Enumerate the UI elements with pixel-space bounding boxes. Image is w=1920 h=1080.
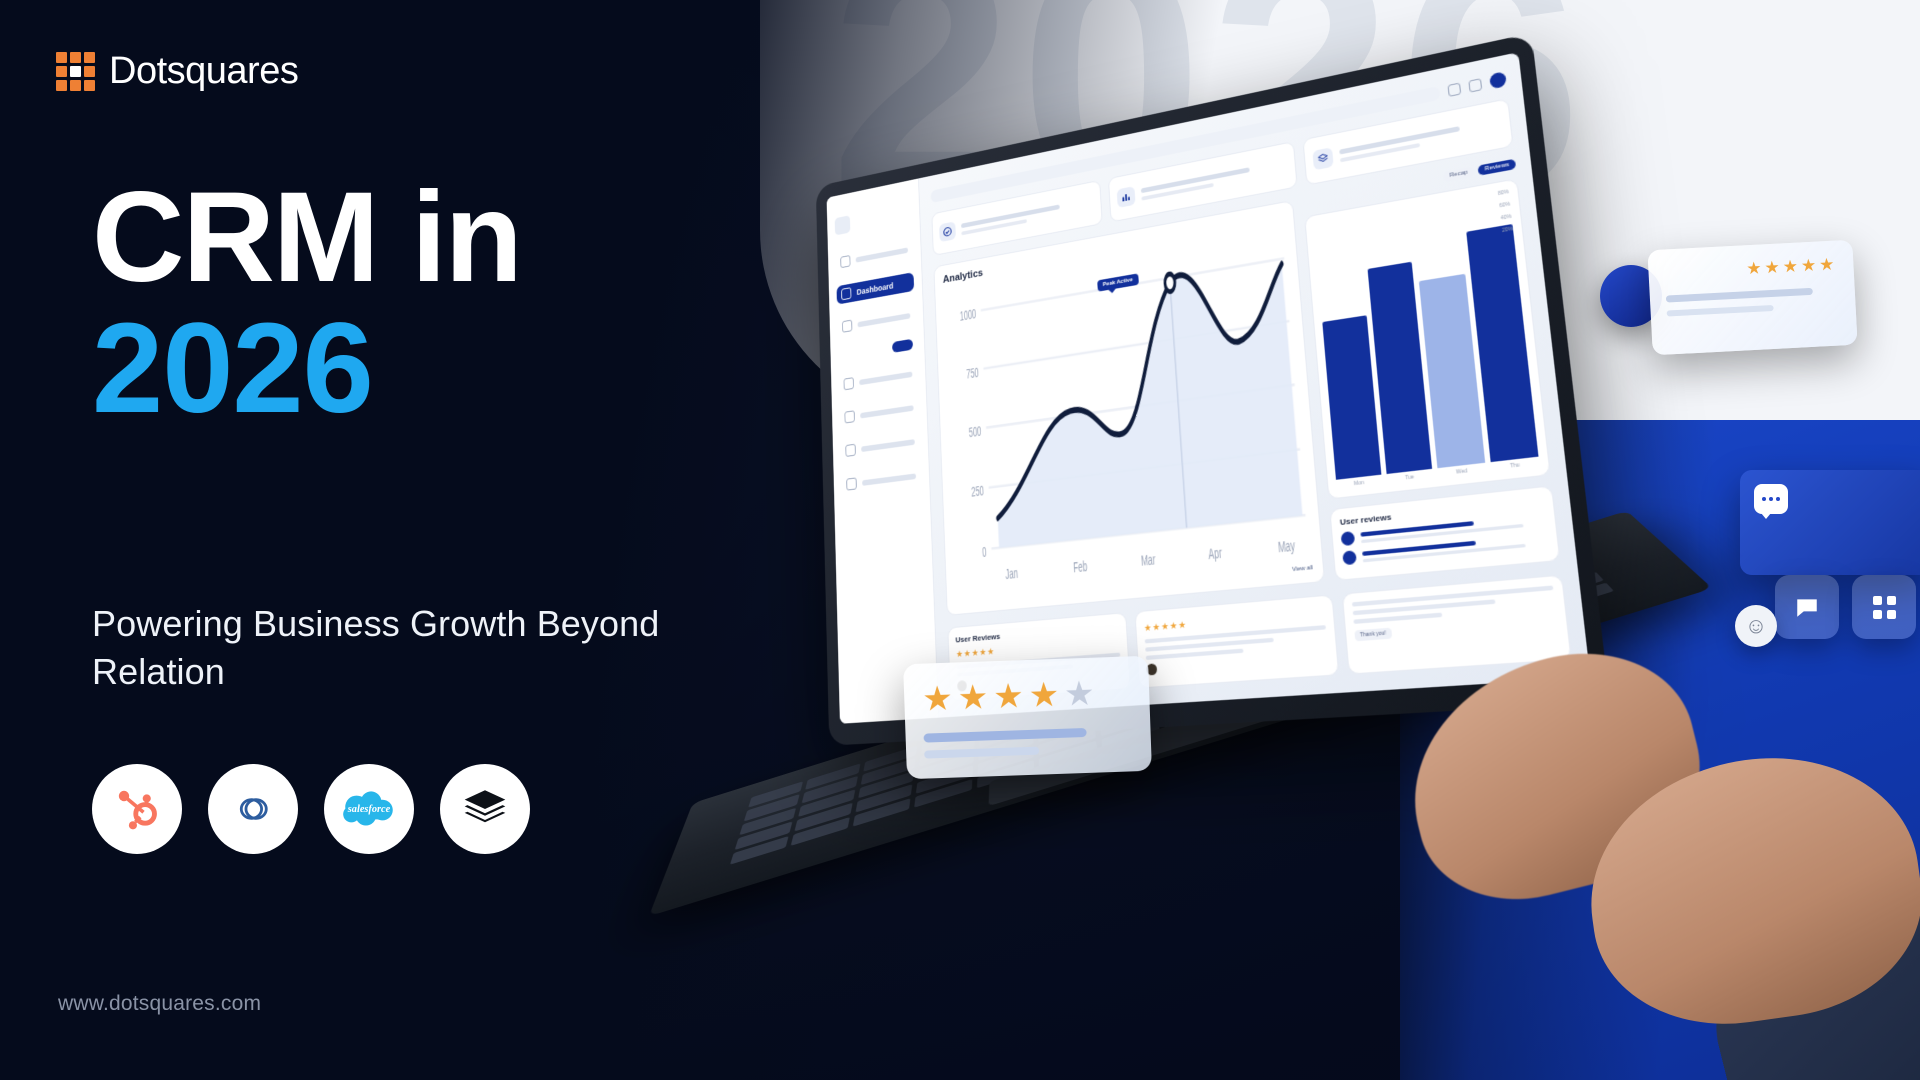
sidebar-toggle[interactable] bbox=[892, 339, 913, 353]
crm-dashboard: Dashboard bbox=[827, 52, 1591, 724]
svg-text:Mar: Mar bbox=[1141, 553, 1156, 571]
brand-logo[interactable]: Dotsquares bbox=[56, 50, 298, 93]
analytics-card: Analytics Peak Active bbox=[933, 200, 1325, 616]
website-url[interactable]: www.dotsquares.com bbox=[58, 992, 261, 1016]
svg-text:750: 750 bbox=[966, 365, 979, 382]
dotsquares-grid-logo-icon bbox=[56, 52, 95, 91]
check-circle-icon bbox=[939, 221, 956, 242]
avatar bbox=[1342, 550, 1357, 565]
crm-logo-salesforce[interactable]: salesforce bbox=[324, 764, 414, 854]
svg-text:500: 500 bbox=[968, 424, 981, 441]
home-icon bbox=[840, 255, 850, 268]
star-rating: ★★★★★ bbox=[1664, 255, 1838, 284]
floating-grid-tile bbox=[1852, 575, 1916, 639]
document-icon bbox=[844, 410, 854, 423]
chat-bubble-icon bbox=[1754, 484, 1788, 514]
edit-icon[interactable] bbox=[1447, 82, 1461, 96]
laptop-screen: Dashboard bbox=[827, 52, 1591, 724]
svg-text:May: May bbox=[1278, 538, 1296, 556]
svg-text:250: 250 bbox=[971, 484, 984, 501]
zoho-icon bbox=[228, 784, 278, 834]
sidebar-item-documents[interactable] bbox=[840, 397, 919, 428]
layers-icon bbox=[460, 784, 510, 834]
users-icon bbox=[842, 320, 852, 333]
dashboard-right-column: Recap Reviews 80%60%40%20% bbox=[1303, 159, 1561, 581]
segment-reviews[interactable]: Reviews bbox=[1478, 159, 1516, 176]
floating-smiley-badge: ☺ bbox=[1735, 605, 1777, 647]
floating-review-card: ★★★★★ bbox=[1647, 240, 1857, 356]
salesforce-icon: salesforce bbox=[338, 787, 400, 831]
left-content: Dotsquares CRM in 2026 Powering Business… bbox=[0, 0, 760, 1080]
brand-name: Dotsquares bbox=[109, 50, 298, 93]
sidebar-item-label bbox=[861, 439, 915, 452]
svg-text:Apr: Apr bbox=[1208, 546, 1223, 564]
subtitle: Powering Business Growth Beyond Relation bbox=[92, 600, 692, 696]
sidebar-item-label bbox=[860, 405, 913, 418]
grid-icon bbox=[841, 287, 851, 300]
svg-text:0: 0 bbox=[982, 545, 987, 561]
sidebar-item-home[interactable] bbox=[836, 239, 913, 272]
sidebar-item-label bbox=[856, 247, 908, 262]
sidebar-item-label: Dashboard bbox=[857, 281, 894, 296]
svg-text:Feb: Feb bbox=[1073, 559, 1088, 576]
view-all-link[interactable]: View all bbox=[1292, 565, 1313, 573]
refresh-icon[interactable] bbox=[1468, 78, 1482, 92]
headline-line-1: CRM in bbox=[92, 178, 521, 298]
sidebar-item-targets[interactable] bbox=[841, 431, 920, 461]
sidebar-item-users[interactable] bbox=[837, 305, 915, 337]
dashboard-main: Analytics Peak Active bbox=[919, 52, 1590, 718]
floating-stars-card: ★★★★★ bbox=[903, 656, 1152, 779]
banner-stage: 2026 bbox=[0, 0, 1920, 1080]
sidebar-item-dashboard[interactable]: Dashboard bbox=[836, 272, 914, 305]
segment-recap[interactable]: Recap bbox=[1443, 166, 1475, 182]
crm-logo-zoho[interactable] bbox=[208, 764, 298, 854]
grid-icon bbox=[1873, 596, 1896, 619]
laptop-mockup: Dashboard bbox=[720, 60, 1920, 1080]
hubspot-icon bbox=[111, 783, 163, 835]
crm-logo-hubspot[interactable] bbox=[92, 764, 182, 854]
bottom-reviews-card: ★★★★★ bbox=[1134, 594, 1339, 688]
thank-you-badge: Thank you! bbox=[1354, 628, 1392, 642]
sidebar-item-add-user[interactable] bbox=[841, 465, 921, 495]
crm-logos-row: salesforce bbox=[92, 764, 530, 854]
sidebar-item-label bbox=[858, 313, 911, 327]
avatar bbox=[1341, 531, 1356, 546]
svg-text:salesforce: salesforce bbox=[347, 804, 391, 815]
svg-text:1000: 1000 bbox=[960, 307, 977, 324]
layers-icon bbox=[1312, 147, 1333, 170]
analytics-chart: Peak Active bbox=[943, 228, 1312, 597]
sidebar-item-label bbox=[859, 371, 912, 385]
bottom-reviews-card: Thank you! bbox=[1342, 574, 1572, 674]
floating-chat-card bbox=[1740, 470, 1920, 575]
bar-chart-icon bbox=[1117, 186, 1136, 208]
add-user-icon bbox=[846, 477, 857, 490]
headline-line-2: 2026 bbox=[92, 304, 521, 435]
target-icon bbox=[845, 444, 856, 457]
laptop-lid: Dashboard bbox=[816, 33, 1610, 746]
svg-text:Jan: Jan bbox=[1005, 566, 1018, 583]
clock-icon bbox=[844, 377, 854, 390]
sidebar-item-label bbox=[862, 473, 916, 485]
webcam-icon bbox=[1141, 121, 1147, 128]
user-reviews-small-card: User reviews bbox=[1330, 485, 1561, 581]
floating-message-tile bbox=[1775, 575, 1839, 639]
star-rating: ★★★★★ bbox=[922, 672, 1132, 719]
app-logo-icon bbox=[835, 215, 851, 235]
page-title: CRM in 2026 bbox=[92, 178, 521, 435]
sidebar-item-activity[interactable] bbox=[839, 363, 918, 394]
bar-chart-card: 80%60%40%20% bbox=[1304, 178, 1550, 500]
crm-logo-layers[interactable] bbox=[440, 764, 530, 854]
avatar[interactable] bbox=[1489, 71, 1507, 89]
